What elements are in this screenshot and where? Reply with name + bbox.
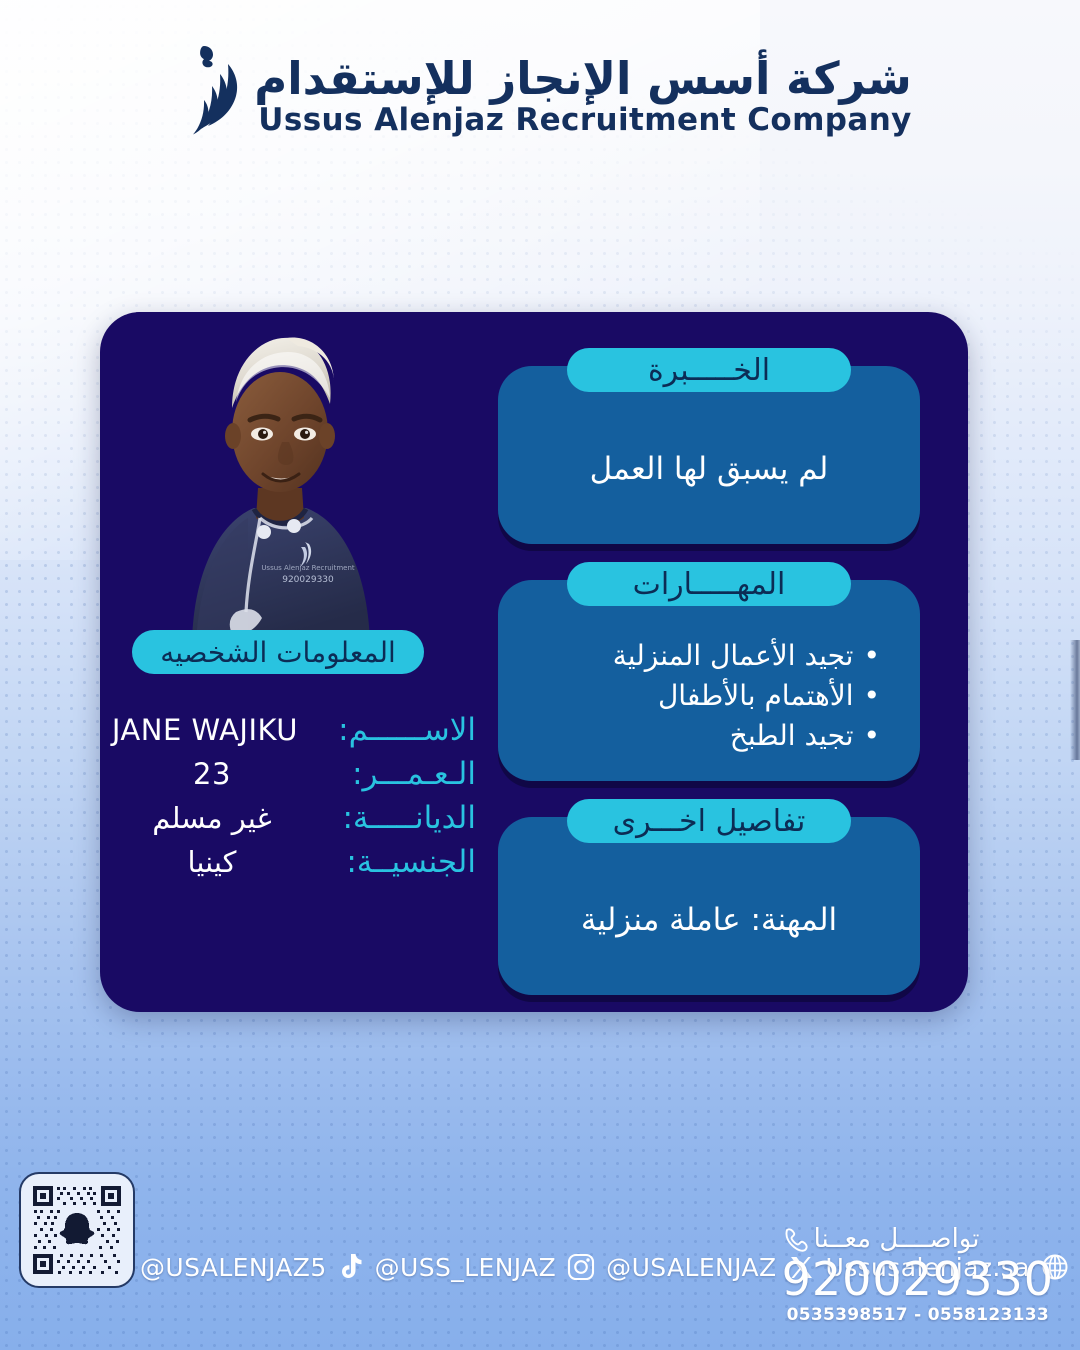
experience-text: لم يسبق لها العمل <box>590 449 829 491</box>
instagram-icon[interactable] <box>567 1253 595 1281</box>
table-row: الجنسيــة: كينيا <box>126 844 476 880</box>
personal-info-value-nationality: كينيا <box>126 845 298 879</box>
company-name-english: Ussus Alenjaz Recruitment Company <box>254 105 912 136</box>
section-other-details: تفاصيل اخـــرى المهنة: عاملة منزلية <box>498 817 920 995</box>
company-logo-text: شركة أسس الإنجاز للإستقدام Ussus Alenjaz… <box>254 56 912 136</box>
social-handle-tiktok[interactable]: @USALENJAZ5 <box>140 1253 327 1282</box>
section-body-experience: لم يسبق لها العمل <box>498 366 920 544</box>
section-heading-skills: المهـــــارات <box>567 562 851 606</box>
card-right-column: 920029330 Ussus Alenjaz Recruitment المع… <box>126 312 486 1012</box>
phone-icon <box>782 1226 808 1252</box>
other-details-text: المهنة: عاملة منزلية <box>581 900 837 942</box>
section-body-skills: تجيد الأعمال المنزلية الأهتمام بالأطفال … <box>498 580 920 781</box>
contact-block: تواصــــل معــنا 920029330 0535398517 - … <box>782 1224 1054 1325</box>
svg-text:Ussus Alenjaz Recruitment: Ussus Alenjaz Recruitment <box>261 564 355 572</box>
contact-phone-number[interactable]: 920029330 <box>782 1256 1054 1302</box>
skills-list: تجيد الأعمال المنزلية الأهتمام بالأطفال … <box>524 636 894 755</box>
section-heading-other-details: تفاصيل اخـــرى <box>567 799 851 843</box>
personal-info-label-age: الـعـمـــر: <box>298 756 476 792</box>
svg-text:920029330: 920029330 <box>282 575 334 585</box>
list-item: تجيد الأعمال المنزلية <box>524 636 880 676</box>
personal-info-value-age: 23 <box>126 757 298 791</box>
right-edge-artifact <box>1070 640 1080 760</box>
table-row: الـعـمـــر: 23 <box>126 756 476 792</box>
personal-info-label-name: الاســــــم: <box>298 712 476 748</box>
feather-shield-logo-icon <box>168 40 240 152</box>
card-left-column: الخـــــبرة لم يسبق لها العمل المهـــــا… <box>498 366 920 1012</box>
section-heading-experience: الخـــــبرة <box>567 348 851 392</box>
personal-info-value-religion: غير مسلم <box>126 801 298 835</box>
candidate-photo: 920029330 Ussus Alenjaz Recruitment <box>136 312 422 642</box>
personal-info-rows: الاســــــم: JANE WAJIKU الـعـمـــر: 23 … <box>126 712 476 888</box>
section-skills: المهـــــارات تجيد الأعمال المنزلية الأه… <box>498 580 920 781</box>
candidate-card: الخـــــبرة لم يسبق لها العمل المهـــــا… <box>100 312 968 1012</box>
personal-info-heading: المعلومات الشخصيه <box>132 630 424 674</box>
section-experience: الخـــــبرة لم يسبق لها العمل <box>498 366 920 544</box>
personal-info-value-name: JANE WAJIKU <box>112 713 298 747</box>
personal-info-label-religion: الديانـــــة: <box>298 800 476 836</box>
contact-mobile-numbers[interactable]: 0535398517 - 0558123133 <box>782 1305 1054 1325</box>
list-item: تجيد الطبخ <box>524 716 880 756</box>
tiktok-icon[interactable] <box>338 1252 364 1282</box>
section-body-other-details: المهنة: عاملة منزلية <box>498 817 920 995</box>
contact-title-row: تواصــــل معــنا <box>782 1224 1054 1254</box>
contact-title-text: تواصــــل معــنا <box>814 1224 980 1254</box>
social-handle-instagram[interactable]: @USS_LENJAZ <box>375 1253 557 1282</box>
social-handle-x[interactable]: @USALENJAZ <box>606 1253 776 1282</box>
personal-info-label-nationality: الجنسيــة: <box>298 844 476 880</box>
company-logo: شركة أسس الإنجاز للإستقدام Ussus Alenjaz… <box>0 40 1080 152</box>
snapchat-qr-code-icon[interactable] <box>19 1172 135 1288</box>
list-item: الأهتمام بالأطفال <box>524 676 880 716</box>
table-row: الاســــــم: JANE WAJIKU <box>126 712 476 748</box>
company-name-arabic: شركة أسس الإنجاز للإستقدام <box>254 56 912 101</box>
table-row: الديانـــــة: غير مسلم <box>126 800 476 836</box>
